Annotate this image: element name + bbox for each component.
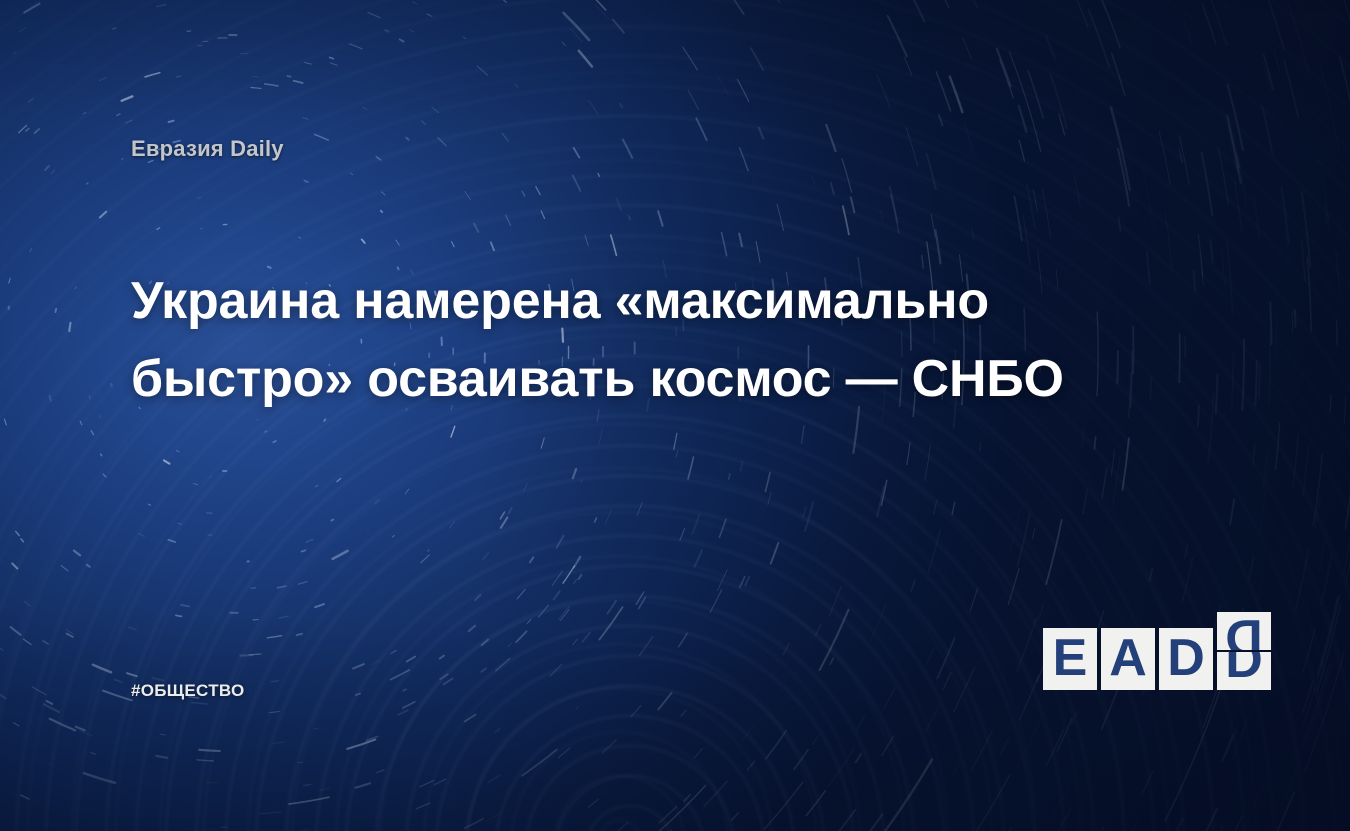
logo-tile-split-mark: D D — [1217, 612, 1271, 690]
logo-letter-e: E — [1053, 632, 1088, 684]
logo-mark-glyph-top: D — [1217, 613, 1271, 650]
logo-tile-a: A — [1101, 628, 1155, 690]
card-content: Евразия Daily Украина намерена «максимал… — [0, 0, 1350, 831]
logo-mark-glyph-bottom: D — [1217, 652, 1271, 686]
article-headline: Украина намерена «максимально быстро» ос… — [131, 262, 1111, 418]
logo-tile-d: D — [1159, 628, 1213, 690]
eadaily-logo: E A D D D — [1043, 628, 1271, 690]
logo-letter-a: A — [1109, 632, 1147, 684]
news-share-card: Евразия Daily Украина намерена «максимал… — [0, 0, 1350, 831]
logo-letter-d: D — [1167, 632, 1205, 684]
logo-mark-top-half: D — [1217, 612, 1271, 650]
category-tag: #ОБЩЕСТВО — [131, 681, 245, 701]
logo-tile-e: E — [1043, 628, 1097, 690]
site-name: Евразия Daily — [131, 136, 284, 162]
logo-mark-bottom-half: D — [1217, 652, 1271, 690]
